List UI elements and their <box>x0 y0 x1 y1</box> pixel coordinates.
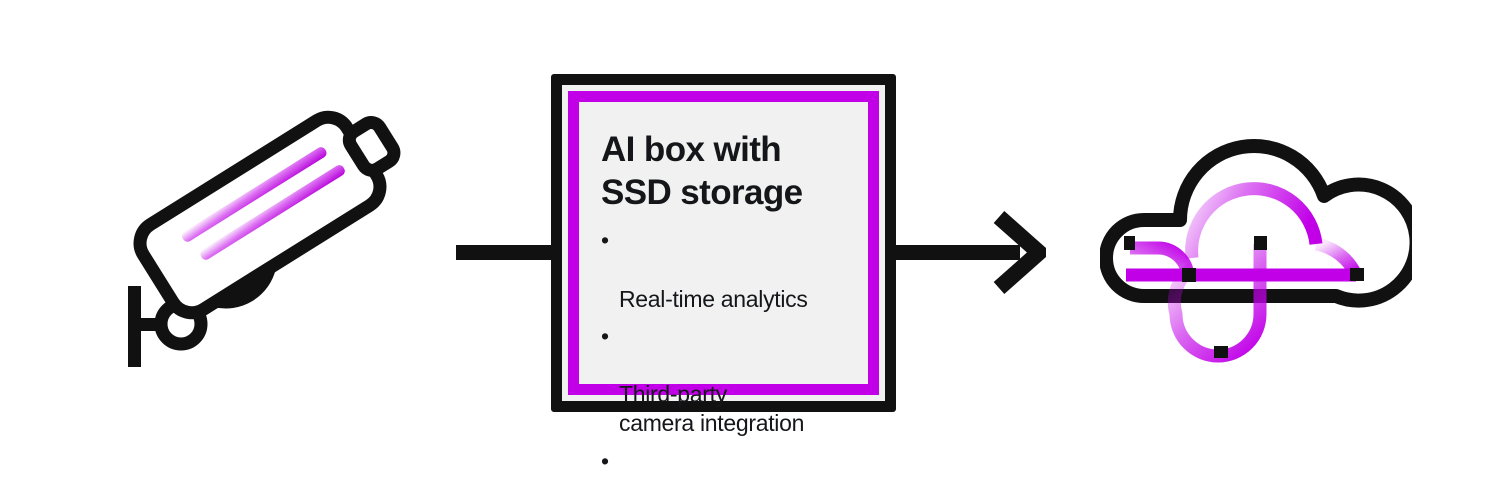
bullet-icon: • <box>601 447 609 476</box>
bullet-icon: • <box>601 322 609 351</box>
security-camera-icon <box>110 90 410 380</box>
bullet-icon: • <box>601 226 609 255</box>
ai-box-node: AI box with SSD storage • Real-time anal… <box>551 74 896 412</box>
ai-box-inner-frame: AI box with SSD storage • Real-time anal… <box>568 91 879 395</box>
ai-box-feature-list: • Real-time analytics • Third-party came… <box>601 226 846 501</box>
list-item: • Real-time analytics <box>601 226 846 314</box>
list-item-label: Real-time analytics <box>619 286 808 312</box>
arrow-shaft <box>896 245 1020 260</box>
diagram-canvas: AI box with SSD storage • Real-time anal… <box>0 0 1500 501</box>
list-item-label: Third-party camera integration <box>619 381 804 436</box>
connector-line <box>456 245 556 260</box>
cloud-icon <box>1100 118 1412 382</box>
arrow-right-icon <box>896 205 1046 301</box>
list-item: • Third-party camera integration <box>601 322 846 439</box>
ai-box-title: AI box with SSD storage <box>601 128 846 214</box>
list-item: • Cloud benefits <box>601 447 846 501</box>
